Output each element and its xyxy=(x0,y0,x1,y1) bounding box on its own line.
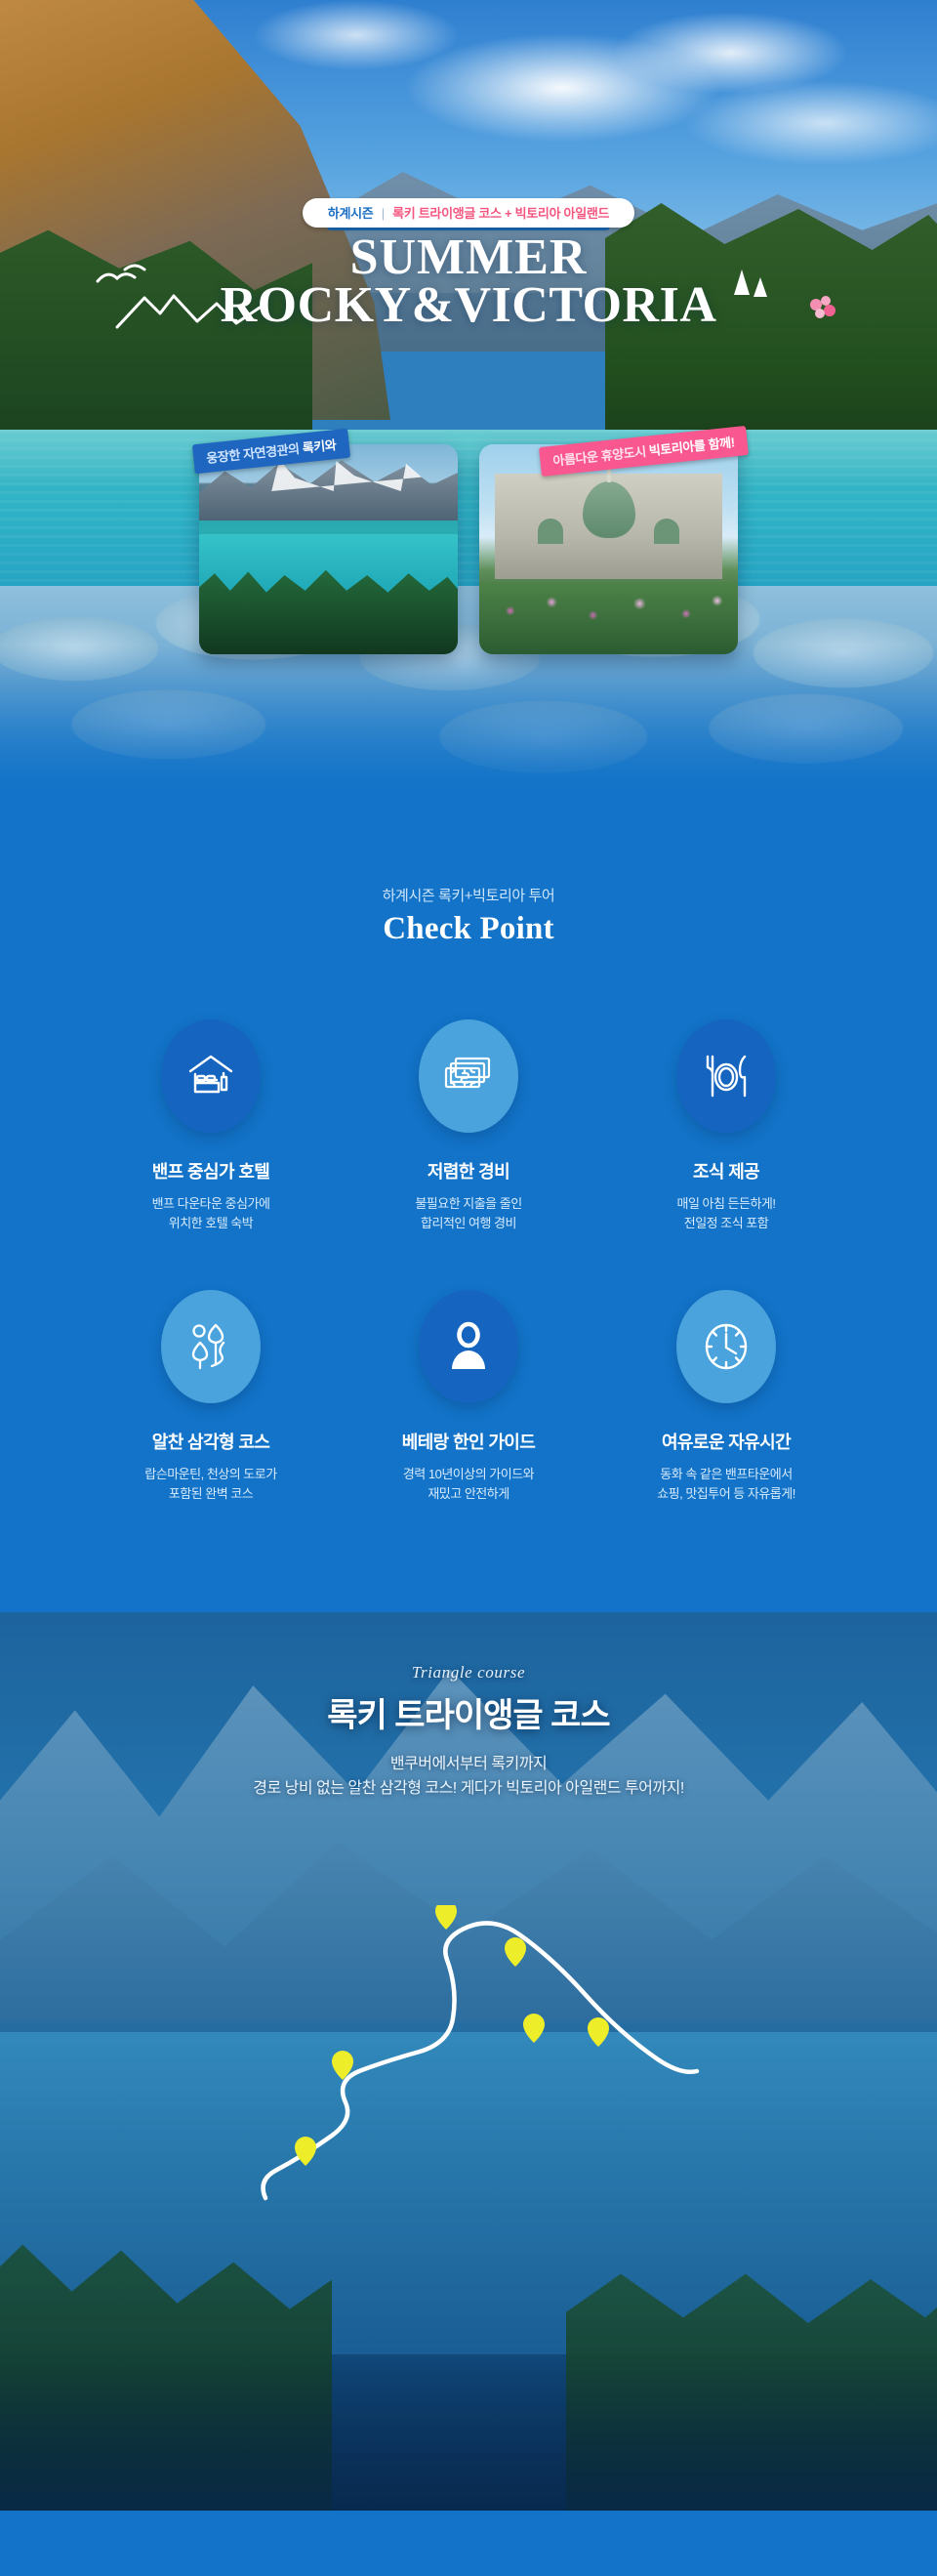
victoria-label-plain: 아름다운 휴양도시 xyxy=(552,443,650,468)
checkpoint-item-freetime[interactable]: 여유로운 자유시간 동화 속 같은 밴프타운에서 쇼핑, 맛집투어 등 자유롭게… xyxy=(632,1290,820,1504)
checkpoint-item-desc: 동화 속 같은 밴프타운에서 쇼핑, 맛집투어 등 자유롭게! xyxy=(632,1465,820,1504)
checkpoint-item-course[interactable]: 알찬 삼각형 코스 랍슨마운틴, 천상의 도로가 포함된 완벽 코스 xyxy=(117,1290,305,1504)
ribbon-season-label: 하계시즌 xyxy=(328,206,374,221)
ribbon-separator: | xyxy=(382,206,385,221)
rocky-photo xyxy=(199,444,458,654)
victoria-label-strong: 빅토리아를 함께! xyxy=(648,435,735,458)
checkpoint-grid: 밴프 중심가 호텔 밴프 다운타운 중심가에 위치한 호텔 숙박 xyxy=(0,1019,937,1505)
person-guide-icon xyxy=(445,1320,492,1373)
desc-line-2: 쇼핑, 맛집투어 등 자유롭게! xyxy=(657,1486,795,1501)
cutlery-plate-icon xyxy=(701,1050,752,1102)
checkpoint-item-name: 조식 제공 xyxy=(632,1158,820,1184)
course-title: 록키 트라이앵글 코스 xyxy=(0,1688,937,1736)
course-lead-text: 밴쿠버에서부터 록키까지 경로 낭비 없는 알찬 삼각형 코스! 게다가 빅토리… xyxy=(0,1752,937,1802)
checkpoint-item-desc: 매일 아침 든든하게! 전일정 조식 포함 xyxy=(632,1194,820,1233)
triangle-course-section: Triangle course 록키 트라이앵글 코스 밴쿠버에서부터 록키까지… xyxy=(0,1612,937,2511)
desc-line-1: 불필요한 지출을 줄인 xyxy=(415,1196,521,1211)
hero-ribbon-wrapper: 하계시즌 | 록키 트라이앵글 코스 + 빅토리아 아일랜드 xyxy=(0,198,937,228)
hero-bottom-gradient xyxy=(0,644,937,791)
checkpoint-item-name: 베테랑 한인 가이드 xyxy=(375,1429,562,1454)
clock-icon xyxy=(699,1319,754,1374)
checkpoint-item-hotel[interactable]: 밴프 중심가 호텔 밴프 다운타운 중심가에 위치한 호텔 숙박 xyxy=(117,1019,305,1233)
desc-line-1: 매일 아침 든든하게! xyxy=(676,1196,775,1211)
route-line xyxy=(264,1923,697,2198)
promo-page: 하계시즌 | 록키 트라이앵글 코스 + 빅토리아 아일랜드 SUMMER RO… xyxy=(0,0,937,2576)
course-route-map xyxy=(0,1905,937,2232)
course-lead-line-2: 경로 낭비 없는 알찬 삼각형 코스! 게다가 빅토리아 아일랜드 투어까지! xyxy=(253,1780,684,1797)
checkpoint-item-desc: 불필요한 지출을 줄인 합리적인 여행 경비 xyxy=(375,1194,562,1233)
checkpoint-subtitle: 하계시즌 록키+빅토리아 투어 xyxy=(0,885,937,905)
victoria-photo xyxy=(479,444,738,654)
checkpoint-section: 하계시즌 록키+빅토리아 투어 Check Point xyxy=(0,791,937,1612)
checkpoint-item-cost[interactable]: 저렴한 경비 불필요한 지출을 줄인 합리적인 여행 경비 xyxy=(375,1019,562,1233)
course-bottom-gradient xyxy=(0,2354,937,2511)
rocky-label-strong: 록키와 xyxy=(302,437,337,456)
course-script-label: Triangle course xyxy=(0,1663,937,1683)
desc-line-2: 위치한 호텔 숙박 xyxy=(169,1216,253,1230)
guide-icon-circle xyxy=(419,1290,518,1403)
ribbon-course-label: 록키 트라이앵글 코스 + 빅토리아 아일랜드 xyxy=(392,206,609,221)
checkpoint-title: Check Point xyxy=(0,911,937,947)
desc-line-1: 경력 10년이상의 가이드와 xyxy=(403,1467,534,1481)
trees-path-icon xyxy=(185,1321,236,1372)
hero-photo-cards: 웅장한 자연경관의 록키와 아름다운 휴양도시 빅토리아를 함께! xyxy=(0,444,937,654)
hotel-icon-circle xyxy=(161,1019,261,1133)
mountain-outline-icon xyxy=(115,288,262,334)
flower-icon xyxy=(806,293,839,327)
hotel-bed-icon xyxy=(184,1050,237,1102)
checkpoint-item-desc: 경력 10년이상의 가이드와 재밌고 안전하게 xyxy=(375,1465,562,1504)
course-lead-line-1: 밴쿠버에서부터 록키까지 xyxy=(390,1756,547,1772)
checkpoint-item-desc: 랍슨마운틴, 천상의 도로가 포함된 완벽 코스 xyxy=(117,1465,305,1504)
desc-line-1: 밴프 다운타운 중심가에 xyxy=(152,1196,270,1211)
checkpoint-row-1: 밴프 중심가 호텔 밴프 다운타운 중심가에 위치한 호텔 숙박 xyxy=(0,1019,937,1233)
photo-card-rocky[interactable]: 웅장한 자연경관의 록키와 xyxy=(199,444,458,654)
course-heading-block: Triangle course 록키 트라이앵글 코스 밴쿠버에서부터 록키까지… xyxy=(0,1612,937,1802)
money-icon-circle xyxy=(419,1019,518,1133)
clock-icon-circle xyxy=(676,1290,776,1403)
desc-line-1: 동화 속 같은 밴프타운에서 xyxy=(660,1467,792,1481)
checkpoint-item-name: 밴프 중심가 호텔 xyxy=(117,1158,305,1184)
money-cash-icon xyxy=(442,1053,495,1100)
checkpoint-item-breakfast[interactable]: 조식 제공 매일 아침 든든하게! 전일정 조식 포함 xyxy=(632,1019,820,1233)
pine-trees-icon xyxy=(730,266,771,315)
checkpoint-row-2: 알찬 삼각형 코스 랍슨마운틴, 천상의 도로가 포함된 완벽 코스 xyxy=(0,1290,937,1504)
checkpoint-item-name: 알찬 삼각형 코스 xyxy=(117,1429,305,1454)
checkpoint-item-guide[interactable]: 베테랑 한인 가이드 경력 10년이상의 가이드와 재밌고 안전하게 xyxy=(375,1290,562,1504)
nature-icon-circle xyxy=(161,1290,261,1403)
desc-line-2: 포함된 완벽 코스 xyxy=(169,1486,253,1501)
checkpoint-item-desc: 밴프 다운타운 중심가에 위치한 호텔 숙박 xyxy=(117,1194,305,1233)
desc-line-1: 랍슨마운틴, 천상의 도로가 xyxy=(144,1467,276,1481)
checkpoint-item-name: 여유로운 자유시간 xyxy=(632,1429,820,1454)
desc-line-2: 합리적인 여행 경비 xyxy=(421,1216,516,1230)
checkpoint-item-name: 저렴한 경비 xyxy=(375,1158,562,1184)
hero-section: 하계시즌 | 록키 트라이앵글 코스 + 빅토리아 아일랜드 SUMMER RO… xyxy=(0,0,937,791)
meal-icon-circle xyxy=(676,1019,776,1133)
rocky-label-plain: 웅장한 자연경관의 xyxy=(206,441,304,466)
photo-card-victoria[interactable]: 아름다운 휴양도시 빅토리아를 함께! xyxy=(479,444,738,654)
desc-line-2: 재밌고 안전하게 xyxy=(428,1486,509,1501)
desc-line-2: 전일정 조식 포함 xyxy=(684,1216,768,1230)
hero-ribbon-badge: 하계시즌 | 록키 트라이앵글 코스 + 빅토리아 아일랜드 xyxy=(303,198,634,228)
